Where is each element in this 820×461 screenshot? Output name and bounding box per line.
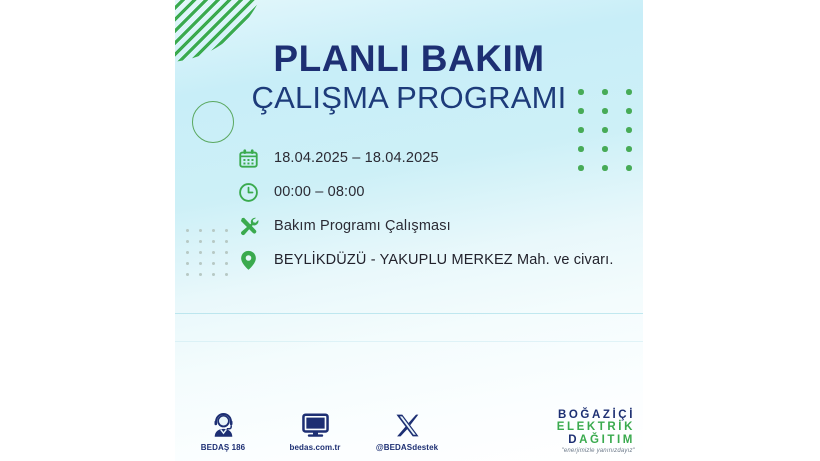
brand-dagitim-rest: AĞITIM [579, 434, 635, 446]
detail-text-location: BEYLİKDÜZÜ - YAKUPLU MERKEZ Mah. ve civa… [268, 252, 614, 268]
brand-line-bogazici: BOĞAZİÇİ [557, 409, 635, 421]
x-twitter-icon [374, 410, 440, 440]
contact-x-label: @BEDASdestek [374, 443, 440, 452]
location-pin-icon [238, 246, 268, 274]
brand-line-dagitim: DAĞITIM [557, 434, 635, 446]
title-main: PLANLI BAKIM [175, 40, 643, 78]
detail-row-worktype: Bakım Programı Çalışması [238, 209, 638, 243]
detail-text-date: 18.04.2025 – 18.04.2025 [268, 150, 439, 166]
clock-icon [238, 178, 268, 206]
brand-line-elektrik: ELEKTRİK [557, 421, 635, 433]
monitor-icon [282, 410, 348, 440]
detail-row-date: 18.04.2025 – 18.04.2025 [238, 141, 638, 175]
maintenance-notice-poster: PLANLI BAKIM ÇALIŞMA PROGRAMI [175, 0, 643, 461]
contact-x-social[interactable]: @BEDASdestek [374, 410, 440, 452]
brand-dagitim-d: D [568, 434, 579, 446]
contact-website-label: bedas.com.tr [282, 443, 348, 452]
support-agent-icon [190, 410, 256, 440]
tools-icon [238, 212, 268, 240]
contact-phone[interactable]: BEDAŞ 186 [190, 410, 256, 452]
panel-seam-line [175, 313, 643, 314]
brand-tagline: "enerjimizle yanınızdayız" [557, 448, 635, 454]
detail-row-time: 00:00 – 08:00 [238, 175, 638, 209]
calendar-icon [238, 144, 268, 172]
detail-text-worktype: Bakım Programı Çalışması [268, 218, 451, 234]
notice-details-list: 18.04.2025 – 18.04.2025 00:00 – 08:00 [238, 141, 638, 277]
detail-text-time: 00:00 – 08:00 [268, 184, 365, 200]
detail-row-location: BEYLİKDÜZÜ - YAKUPLU MERKEZ Mah. ve civa… [238, 243, 638, 277]
page-title: PLANLI BAKIM ÇALIŞMA PROGRAMI [175, 40, 643, 114]
contact-phone-label: BEDAŞ 186 [190, 443, 256, 452]
title-subtitle: ÇALIŞMA PROGRAMI [175, 82, 643, 115]
contact-website[interactable]: bedas.com.tr [282, 410, 348, 452]
bedas-logo: BOĞAZİÇİ ELEKTRİK DAĞITIM "enerjimizle y… [557, 409, 635, 455]
screenshot-stage: PLANLI BAKIM ÇALIŞMA PROGRAMI [0, 0, 820, 461]
dot-grid-left-decoration [186, 229, 238, 284]
footer-contacts: BEDAŞ 186 bedas.com.tr [190, 410, 440, 452]
panel-seam-line-secondary [175, 341, 643, 342]
